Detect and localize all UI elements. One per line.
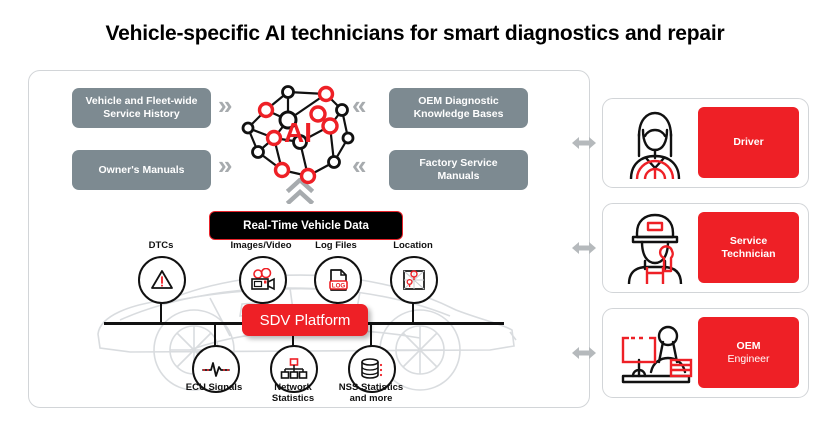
source-box-oem-diagnostic-knowledge-bases: OEM Diagnostic Knowledge Bases [389,88,528,128]
data-node-images-video[interactable] [239,256,287,304]
svg-text:LOG: LOG [332,282,346,289]
data-node-label-network-statistics: Network Statistics [256,382,330,404]
page-title: Vehicle-specific AI technicians for smar… [0,22,830,46]
persona-card-service-technician[interactable]: Service Technician [602,203,809,293]
map-location-icon [401,268,427,292]
double-arrow-icon [572,345,596,361]
realtime-vehicle-data-bar: Real-Time Vehicle Data [209,211,403,240]
persona-card-driver[interactable]: Driver [602,98,809,188]
data-node-label-location: Location [378,240,448,251]
source-line-2: Manuals [419,170,497,183]
technician-person-icon [615,211,695,284]
source-box-vehicle-service-history: Vehicle and Fleet-wide Service History [72,88,211,128]
ai-brain-network-icon: AI [230,80,360,190]
data-node-label-images-video: Images/Video [218,240,304,251]
double-arrow-icon [572,135,596,151]
data-node-label-log-files: Log Files [300,240,372,251]
source-line-1: OEM Diagnostic [414,95,504,108]
source-line-1: Factory Service [419,157,497,170]
data-node-label-ecu-signals: ECU Signals [176,382,252,393]
node-stem [214,324,216,346]
data-node-label-nss-statistics: NSS Statistics and more [332,382,410,404]
engineer-person-icon [615,316,695,389]
data-node-location[interactable] [390,256,438,304]
persona-label-service-technician: Service Technician [698,212,799,283]
source-line-1: Owner's Manuals [99,164,185,177]
data-node-log-files[interactable]: LOG [314,256,362,304]
source-line-2: Knowledge Bases [414,108,504,121]
data-node-label-dtcs: DTCs [126,240,196,251]
driver-person-icon [615,106,695,179]
warning-triangle-icon [149,267,175,293]
double-arrow-icon [572,240,596,256]
sdv-platform-badge: SDV Platform [242,304,368,336]
persona-label-oem-engineer: OEM Engineer [698,317,799,388]
source-line-1: Vehicle and Fleet-wide [85,95,197,108]
persona-label-driver: Driver [698,107,799,178]
video-camera-icon [249,268,277,292]
waveform-icon [201,358,231,380]
database-icon [359,357,385,381]
persona-card-oem-engineer[interactable]: OEM Engineer [602,308,809,398]
source-box-owners-manuals: Owner's Manuals [72,150,211,190]
source-box-factory-service-manuals: Factory Service Manuals [389,150,528,190]
data-node-dtcs[interactable] [138,256,186,304]
log-file-icon: LOG [326,267,350,293]
network-tree-icon [280,357,308,381]
ai-label: AI [284,117,312,148]
source-line-2: Service History [85,108,197,121]
node-stem [370,324,372,346]
